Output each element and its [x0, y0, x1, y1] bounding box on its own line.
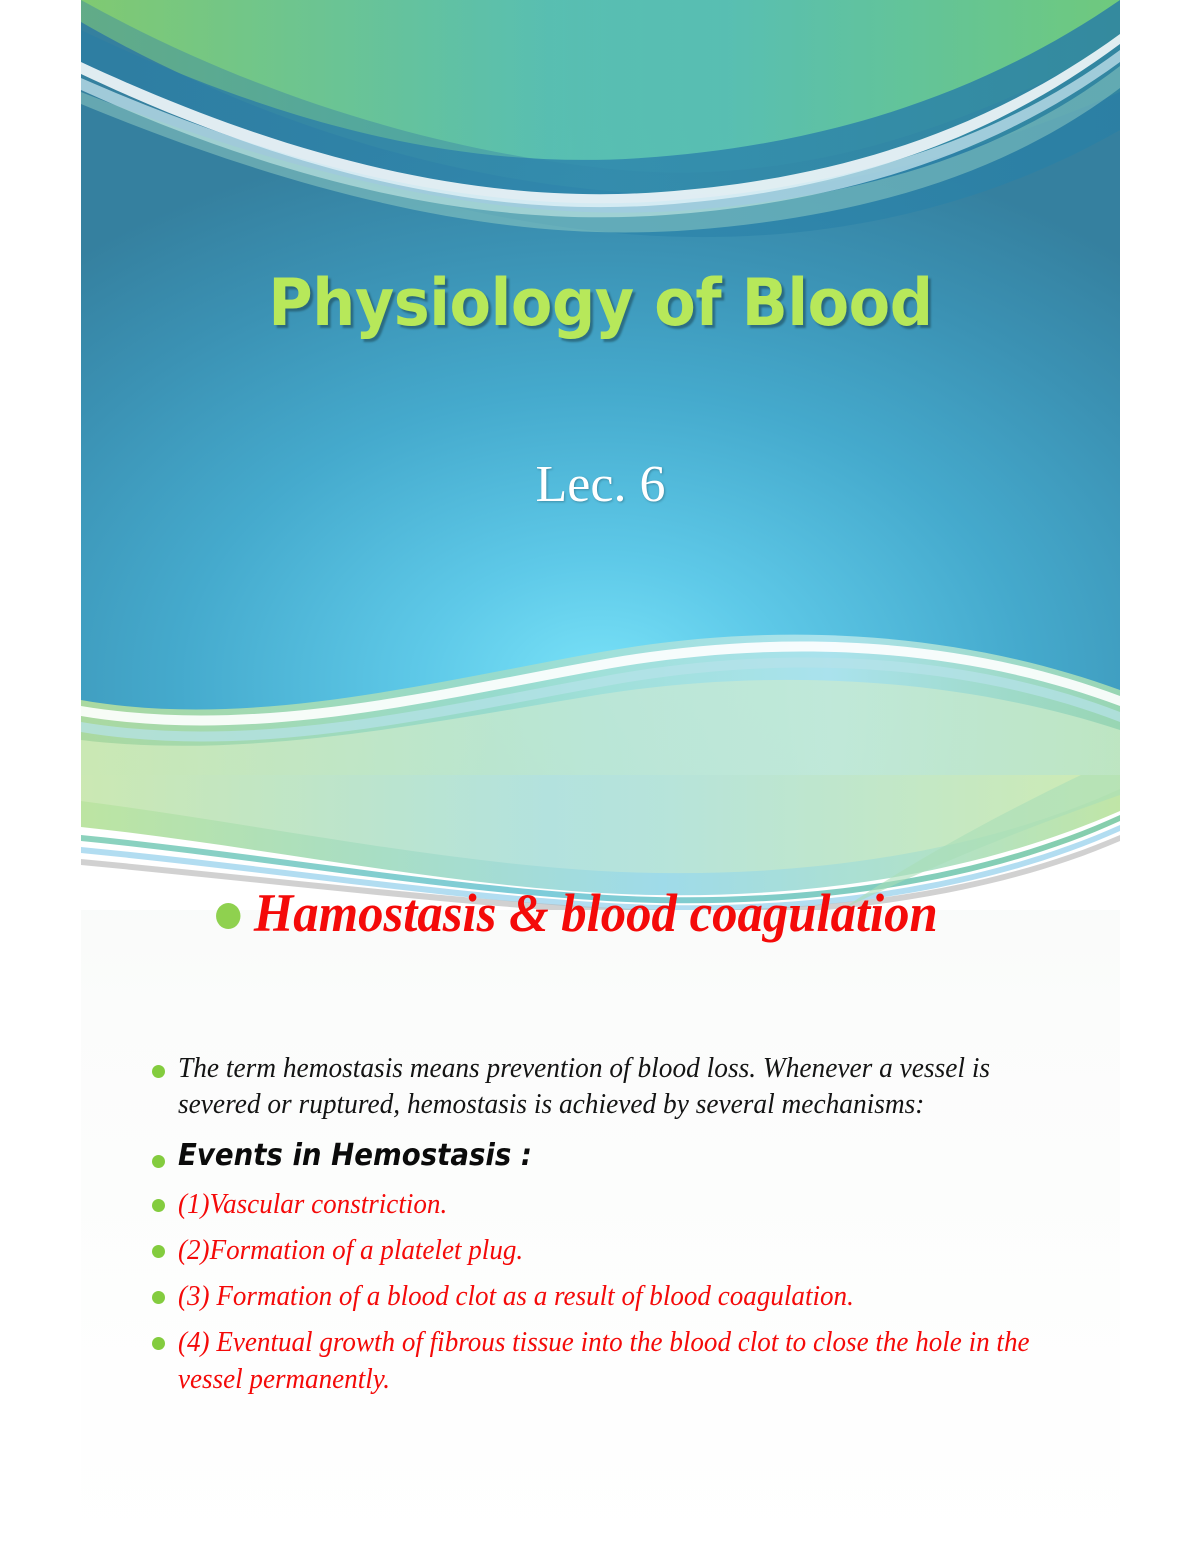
events-heading: Events in Hemostasis : [178, 1138, 1027, 1174]
event-item-2: (2)Formation of a platelet plug. [178, 1232, 1055, 1269]
slide-title-text: Physiology of Blood [117, 266, 1083, 341]
slide-title: Physiology of Blood Lec. 6 [81, 0, 1120, 775]
event-item-1: (1)Vascular constriction. [178, 1186, 1055, 1223]
heading-bullet-icon [216, 903, 240, 929]
list-item: Events in Hemostasis : [141, 1138, 1101, 1174]
list-item: (3) Formation of a blood clot as a resul… [141, 1278, 1101, 1315]
list-item: (1)Vascular constriction. [141, 1186, 1101, 1223]
slide-content: Hamostasis & blood coagulation The term … [81, 775, 1120, 1553]
section-heading-text: Hamostasis & blood coagulation [254, 883, 938, 943]
event-item-4: (4) Eventual growth of fibrous tissue in… [178, 1324, 1055, 1398]
list-item: (4) Eventual growth of fibrous tissue in… [141, 1324, 1101, 1398]
intro-paragraph: The term hemostasis means prevention of … [178, 1051, 1064, 1124]
list-item: (2)Formation of a platelet plug. [141, 1232, 1101, 1269]
slide1-wave-decoration [81, 0, 1120, 775]
event-item-3: (3) Formation of a blood clot as a resul… [178, 1278, 1055, 1315]
section-heading: Hamostasis & blood coagulation [201, 885, 953, 942]
presentation-page: Physiology of Blood Lec. 6 [0, 0, 1200, 1553]
content-bullet-list: The term hemostasis means prevention of … [141, 1051, 1101, 1407]
lecture-number: Lec. 6 [81, 455, 1120, 514]
list-item: The term hemostasis means prevention of … [141, 1051, 1101, 1124]
